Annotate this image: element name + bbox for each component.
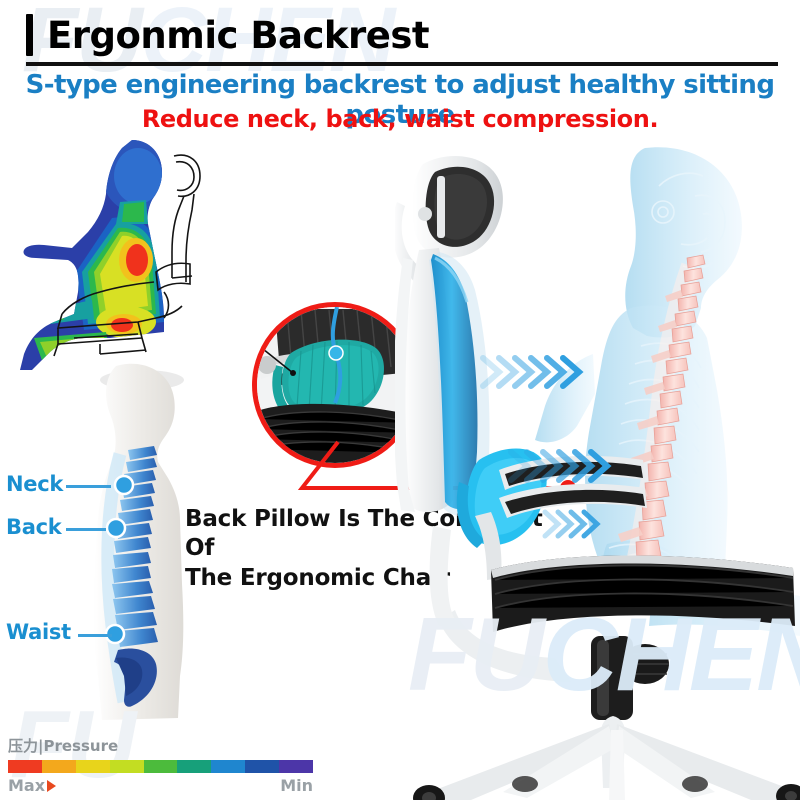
title-accent-bar — [26, 14, 33, 56]
pressure-legend-gradient — [8, 760, 313, 773]
legend-band-6 — [211, 760, 245, 773]
spine-label-neck: Neck — [6, 472, 63, 496]
legend-band-8 — [279, 760, 313, 773]
leader-line-waist — [78, 634, 112, 637]
arrow-right-icon — [47, 780, 56, 792]
leader-line-neck — [66, 485, 111, 488]
subtitle-secondary: Reduce neck, back, waist compression. — [0, 105, 800, 133]
legend-band-2 — [76, 760, 110, 773]
max-label: Max — [8, 776, 45, 795]
pressure-legend-min: Min — [280, 776, 313, 795]
chair-and-body-illustration — [395, 140, 800, 800]
pressure-arrow-group-upper — [483, 358, 579, 386]
infographic-canvas: FUCHEN Ergonmic Backrest S-type engineer… — [0, 0, 800, 800]
legend-band-0 — [8, 760, 42, 773]
legend-band-7 — [245, 760, 279, 773]
leader-line-back — [66, 528, 106, 531]
page-title: Ergonmic Backrest — [47, 17, 429, 54]
title-divider — [26, 62, 778, 66]
pressure-legend: 压力|Pressure Max Min — [8, 735, 320, 795]
legend-band-5 — [177, 760, 211, 773]
pressure-map-illustration — [14, 132, 239, 390]
pressure-legend-title: 压力|Pressure — [8, 735, 320, 756]
pressure-legend-endpoints: Max Min — [8, 776, 313, 795]
legend-band-1 — [42, 760, 76, 773]
spine-label-waist: Waist — [6, 620, 71, 644]
spine-label-back: Back — [6, 515, 61, 539]
page-title-row: Ergonmic Backrest — [26, 14, 429, 56]
pressure-legend-max: Max — [8, 776, 56, 795]
legend-band-3 — [110, 760, 144, 773]
legend-band-4 — [144, 760, 178, 773]
